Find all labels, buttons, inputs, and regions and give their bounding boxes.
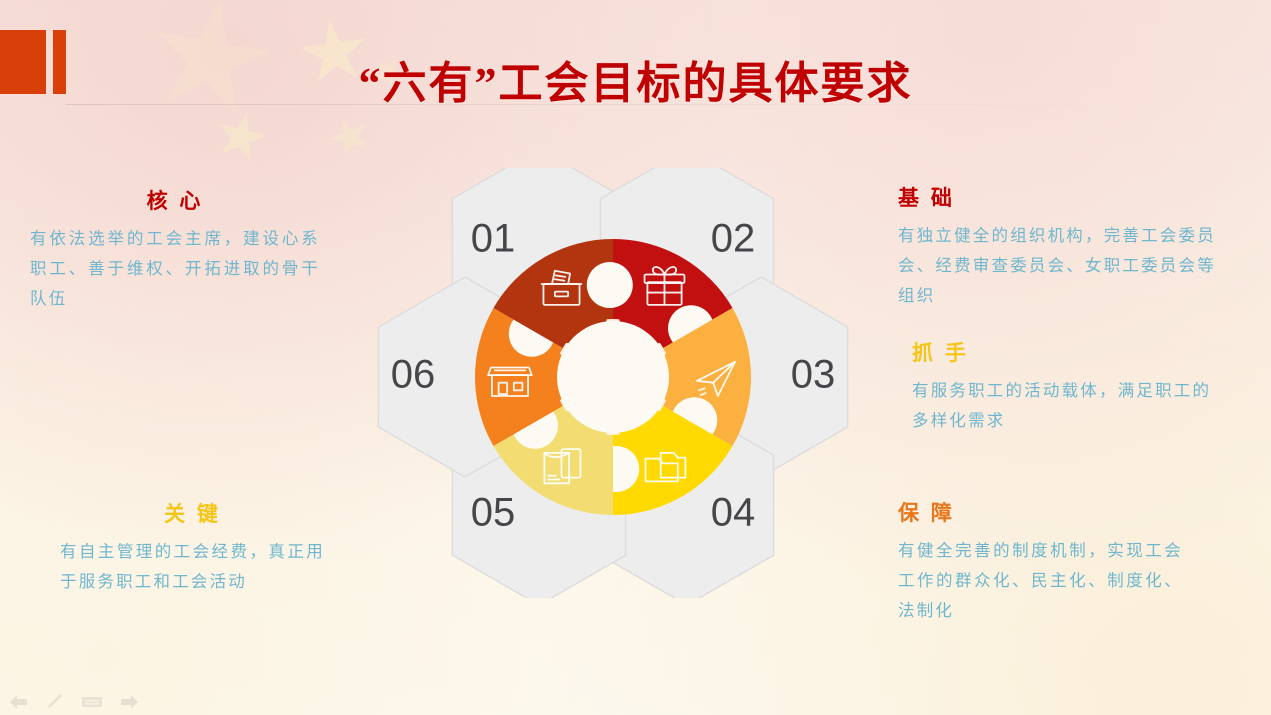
block-body-guarantee: 有健全完善的制度机制，实现工会工作的群众化、民主化、制度化、法制化 (898, 536, 1183, 626)
previous-slide-icon[interactable] (8, 693, 30, 711)
text-block-grip: 抓 手 有服务职工的活动载体，满足职工的多样化需求 (912, 337, 1222, 436)
block-heading-base: 基 础 (898, 182, 1228, 212)
hexagon-number-02: 02 (711, 216, 756, 260)
pen-icon[interactable] (44, 693, 66, 711)
block-body-key: 有自主管理的工会经费，真正用于服务职工和工会活动 (60, 537, 325, 597)
slideshow-statusbar (8, 693, 140, 711)
page-title: “六有”工会目标的具体要求 (0, 47, 1271, 111)
next-slide-icon[interactable] (118, 693, 140, 711)
star-icon (324, 112, 375, 162)
wheel-hub (557, 321, 669, 433)
star-icon (210, 106, 273, 167)
hexagon-number-01: 01 (471, 216, 516, 260)
block-body-grip: 有服务职工的活动载体，满足职工的多样化需求 (912, 376, 1222, 436)
six-segment-wheel-diagram: 010203040506 (368, 168, 858, 598)
block-heading-grip: 抓 手 (912, 337, 1222, 367)
text-block-key: 关 键 有自主管理的工会经费，真正用于服务职工和工会活动 (60, 498, 325, 597)
hexagon-number-05: 05 (471, 491, 516, 535)
hexagon-number-04: 04 (711, 491, 756, 535)
block-heading-core: 核 心 (30, 185, 320, 215)
menu-icon[interactable] (80, 693, 104, 711)
block-body-core: 有依法选举的工会主席，建设心系职工、善于维权、开拓进取的骨干队伍 (30, 224, 320, 314)
puzzle-segment-ring (475, 239, 751, 515)
text-block-guarantee: 保 障 有健全完善的制度机制，实现工会工作的群众化、民主化、制度化、法制化 (898, 497, 1183, 626)
block-heading-guarantee: 保 障 (898, 497, 1183, 527)
text-block-core: 核 心 有依法选举的工会主席，建设心系职工、善于维权、开拓进取的骨干队伍 (30, 185, 320, 314)
block-heading-key: 关 键 (60, 498, 325, 528)
text-block-base: 基 础 有独立健全的组织机构，完善工会委员会、经费审查委员会、女职工委员会等组织 (898, 182, 1228, 311)
block-body-base: 有独立健全的组织机构，完善工会委员会、经费审查委员会、女职工委员会等组织 (898, 221, 1228, 311)
hexagon-number-03: 03 (791, 353, 836, 397)
hexagon-number-06: 06 (391, 353, 436, 397)
